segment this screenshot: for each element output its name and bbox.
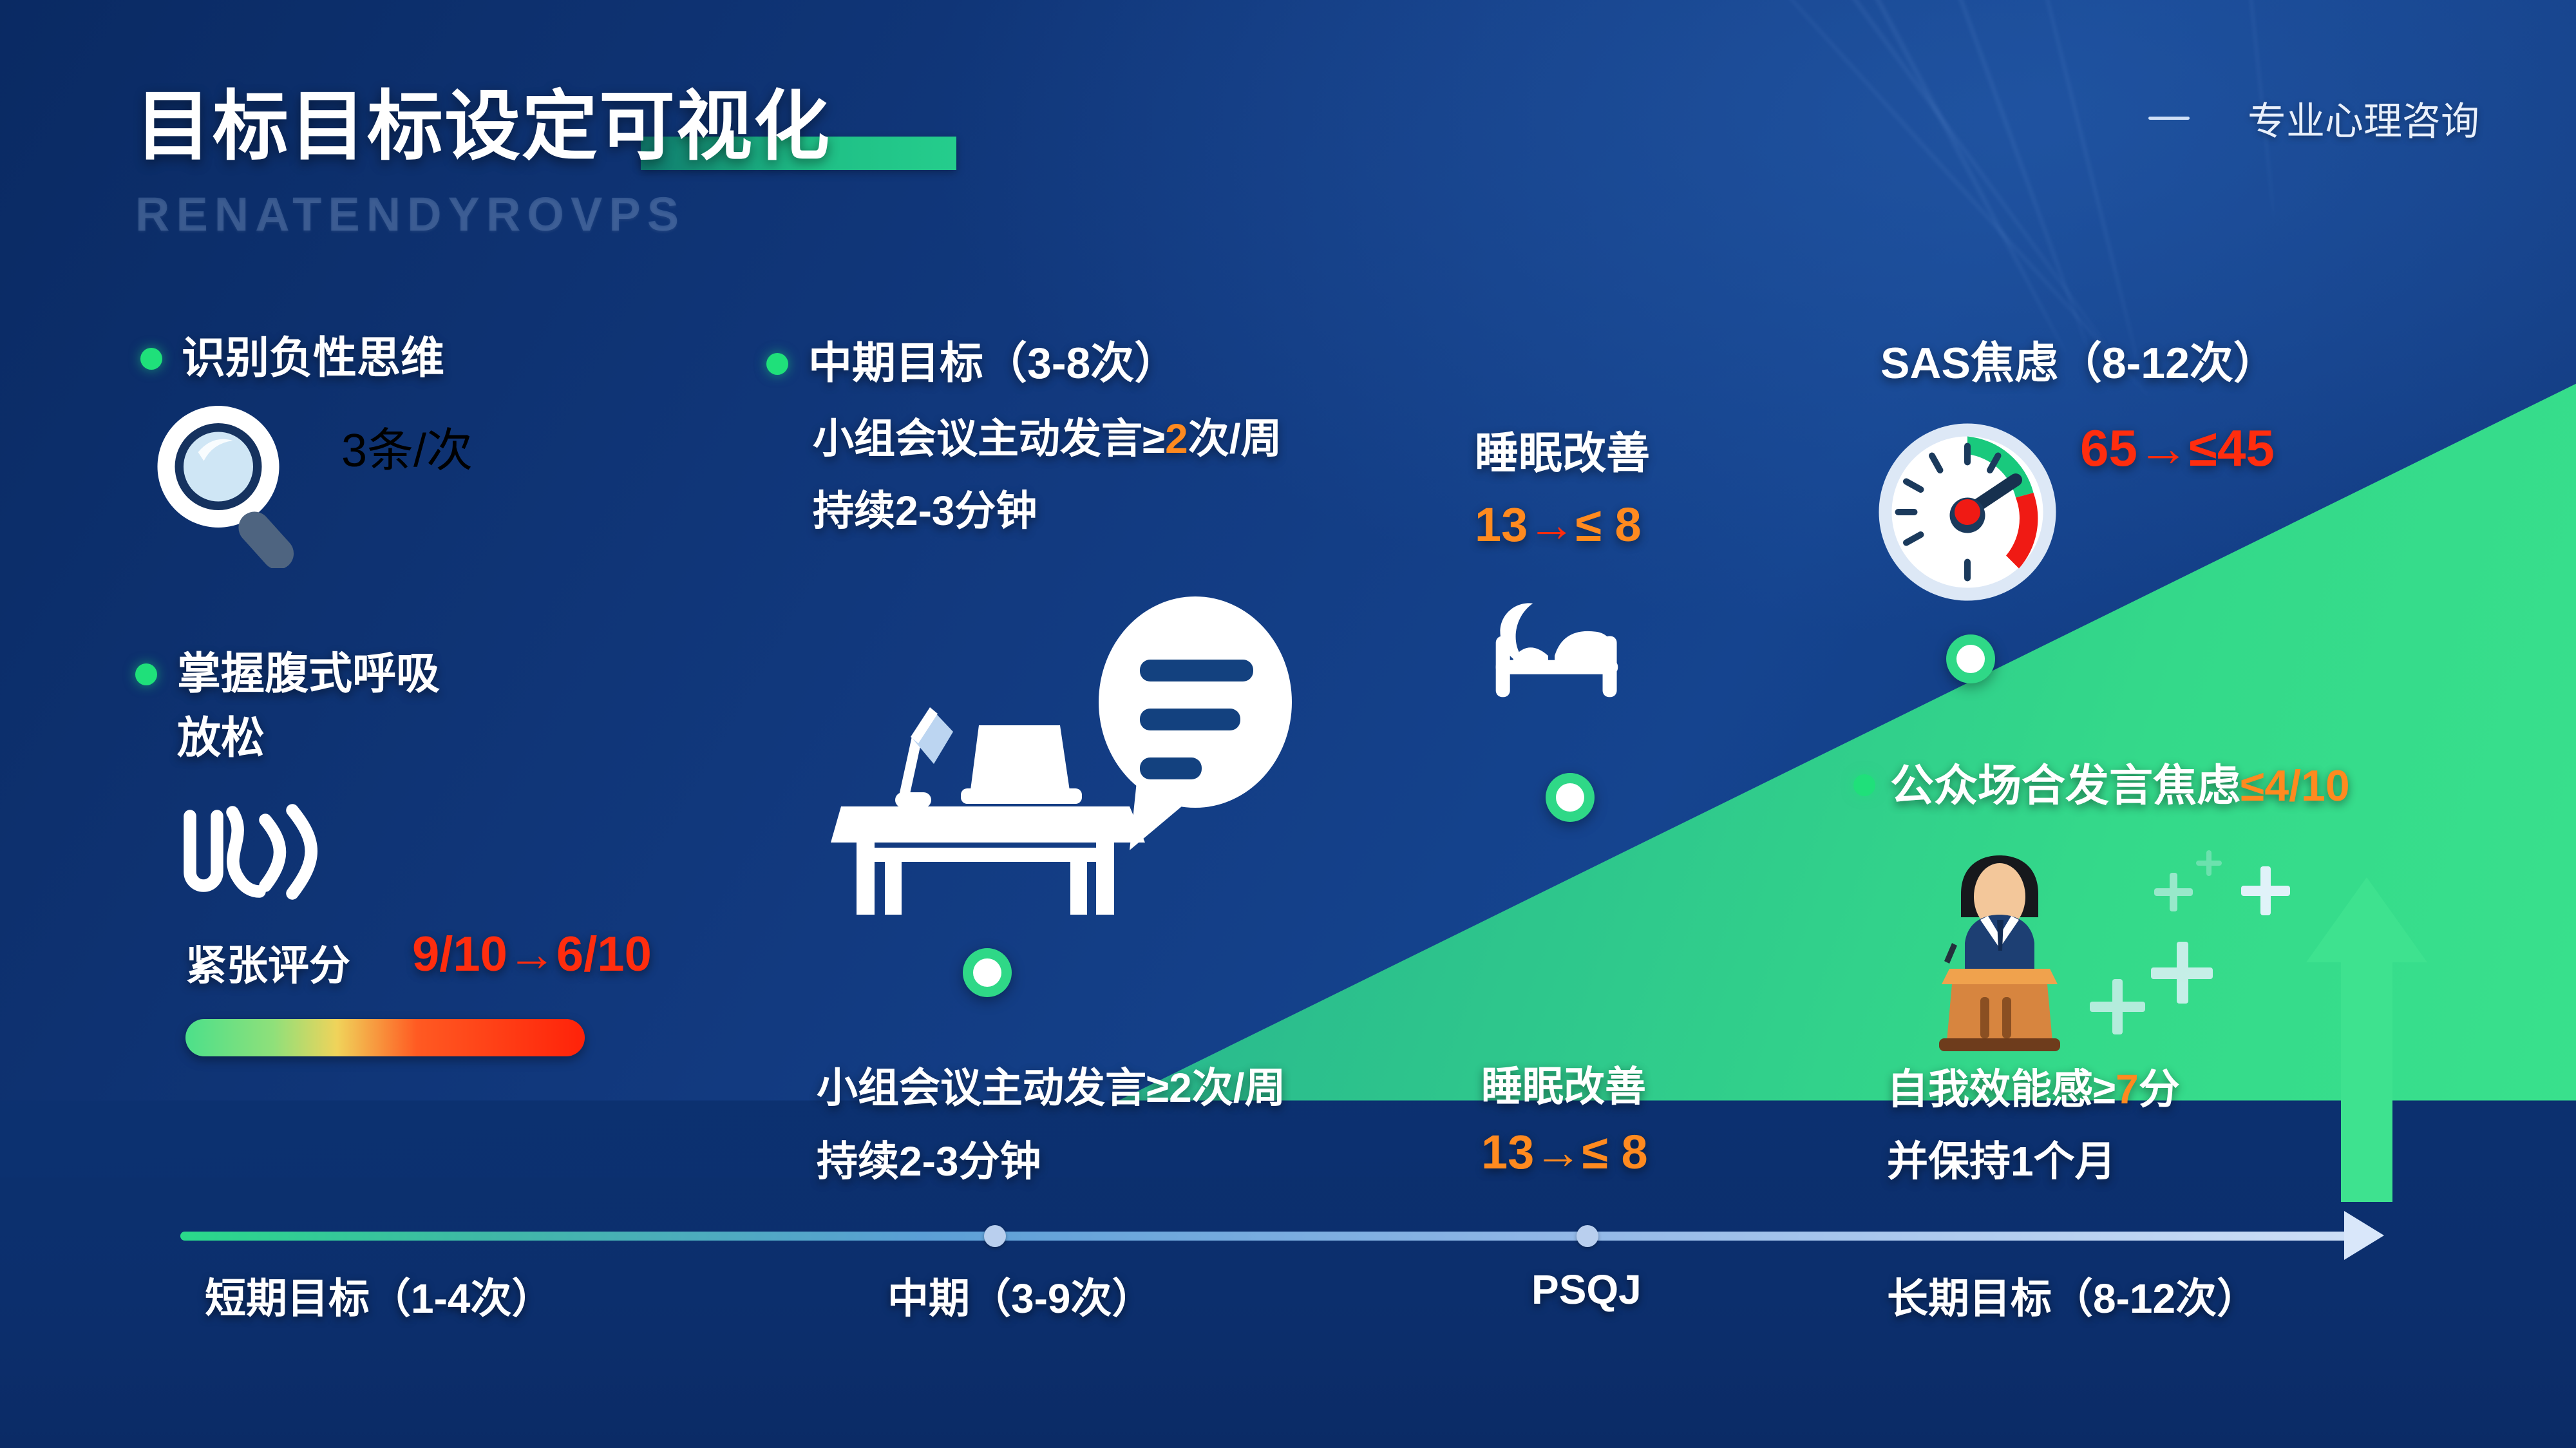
texture-stroke [1732,0,2069,355]
sleep-top-value: 13→≤ 8 [1475,497,1642,552]
sas-to: ≤45 [2189,419,2275,477]
mid-term-heading: 中期目标（3-8次） [808,327,1178,391]
mid-term-line2-tail: 次/周 [1188,415,1282,462]
axis-label-mid: 中期（3-9次） [887,1266,1153,1325]
bottom-efficacy-line2: 并保持1个月 [1887,1129,2116,1188]
public-speaking-label: 公众场合发言焦虑 [1890,761,2240,810]
tension-gradient-bar [185,1019,585,1056]
bottom-efficacy-value: 7 [2116,1066,2139,1112]
bottom-mid-line1: 小组会议主动发言≥2次/周 [817,1055,1286,1114]
gauge-clock-icon [1871,415,2064,609]
axis-label-psqj: PSQJ [1531,1266,1642,1313]
bullet-dot [135,663,157,685]
tension-to: 6/10 [556,927,652,982]
watermark-subtitle: RENATENDYROVPS [135,187,685,242]
bottom-efficacy-tail: 分 [2139,1066,2180,1112]
milestone-node-short[interactable] [963,948,1012,997]
bed-moon-icon [1484,599,1703,741]
bottom-efficacy-label: 自我效能感≥ [1887,1066,2116,1112]
breathing-wave-icon [173,787,327,903]
tension-arrow: → [507,927,556,982]
milestone-node-mid[interactable] [1546,773,1595,822]
texture-stroke [1633,0,2109,348]
mid-term-line2-text: 小组会议主动发言≥ [813,415,1165,462]
axis-tick[interactable] [984,1225,1006,1247]
arrow-right-icon [2344,1211,2384,1260]
tension-score-value: 9/10→6/10 [412,926,652,982]
mid-term-line2-value: 2 [1165,415,1188,462]
mid-term-line3: 持续2-3分钟 [813,478,1037,537]
bottom-sleep-to: ≤ 8 [1582,1125,1647,1179]
sas-heading: SAS焦虑（8-12次） [1880,327,2277,391]
sleep-top-arrow: → [1528,498,1575,551]
sleep-top-label: 睡眠改善 [1475,417,1650,481]
page-title: 目标目标设定可视化 [135,64,831,175]
tension-score-label: 紧张评分 [185,933,350,992]
bottom-sleep-arrow: → [1534,1125,1582,1179]
axis-label-long: 长期目标（8-12次） [1887,1266,2258,1325]
sparkle-plus-icon [2241,866,2290,915]
sleep-top-to: ≤ 8 [1575,498,1641,551]
sas-value: 65→≤45 [2080,419,2275,478]
bullet-dot [1853,774,1875,796]
brand-label: 专业心理咨询 [2148,90,2479,146]
bottom-sleep-label: 睡眠改善 [1481,1054,1646,1113]
up-arrow-icon [2302,870,2431,1205]
bottom-efficacy-line1: 自我效能感≥7分 [1887,1056,2180,1116]
sas-arrow: → [2137,419,2189,477]
sparkle-plus-icon [2090,979,2145,1034]
brand-dash-icon [2148,117,2190,120]
axis-tick[interactable] [1577,1225,1598,1247]
texture-stroke [2020,0,2141,368]
slide-canvas: 目标目标设定可视化 RENATENDYROVPS 专业心理咨询 识别负性思维 3… [0,0,2576,1448]
tension-from: 9/10 [412,927,507,982]
desk-lamp-laptop-chat-icon [831,580,1346,915]
magnifier-icon [143,394,317,568]
brand-text: 专业心理咨询 [2248,90,2479,146]
axis-label-short: 短期目标（1-4次） [205,1266,553,1325]
bullet-dot [766,353,788,375]
timeline-axis [180,1232,2363,1241]
sas-from: 65 [2080,419,2137,477]
bottom-mid-line2: 持续2-3分钟 [817,1129,1041,1188]
public-speaking-value: ≤4/10 [2240,761,2350,810]
milestone-node-long[interactable] [1946,634,1995,683]
bottom-sleep-from: 13 [1481,1125,1534,1179]
public-speaking-line: 公众场合发言焦虑≤4/10 [1890,750,2350,814]
sparkle-plus-icon [2196,850,2222,876]
speaker-podium-icon [1903,843,2096,1055]
short-term-item1-value: 3条/次 [341,412,473,480]
mid-term-line2: 小组会议主动发言≥2次/周 [813,406,1282,465]
short-term-item1-label: 识别负性思维 [182,322,444,386]
sparkle-plus-icon [2151,942,2213,1004]
short-term-item2-label-line1: 掌握腹式呼吸 [177,638,440,701]
sparkle-plus-icon [2154,873,2193,911]
bullet-dot [140,348,162,370]
bottom-sleep-value: 13→≤ 8 [1481,1125,1648,1179]
short-term-item2-label-line2: 放松 [177,702,265,766]
sleep-top-from: 13 [1475,498,1528,551]
